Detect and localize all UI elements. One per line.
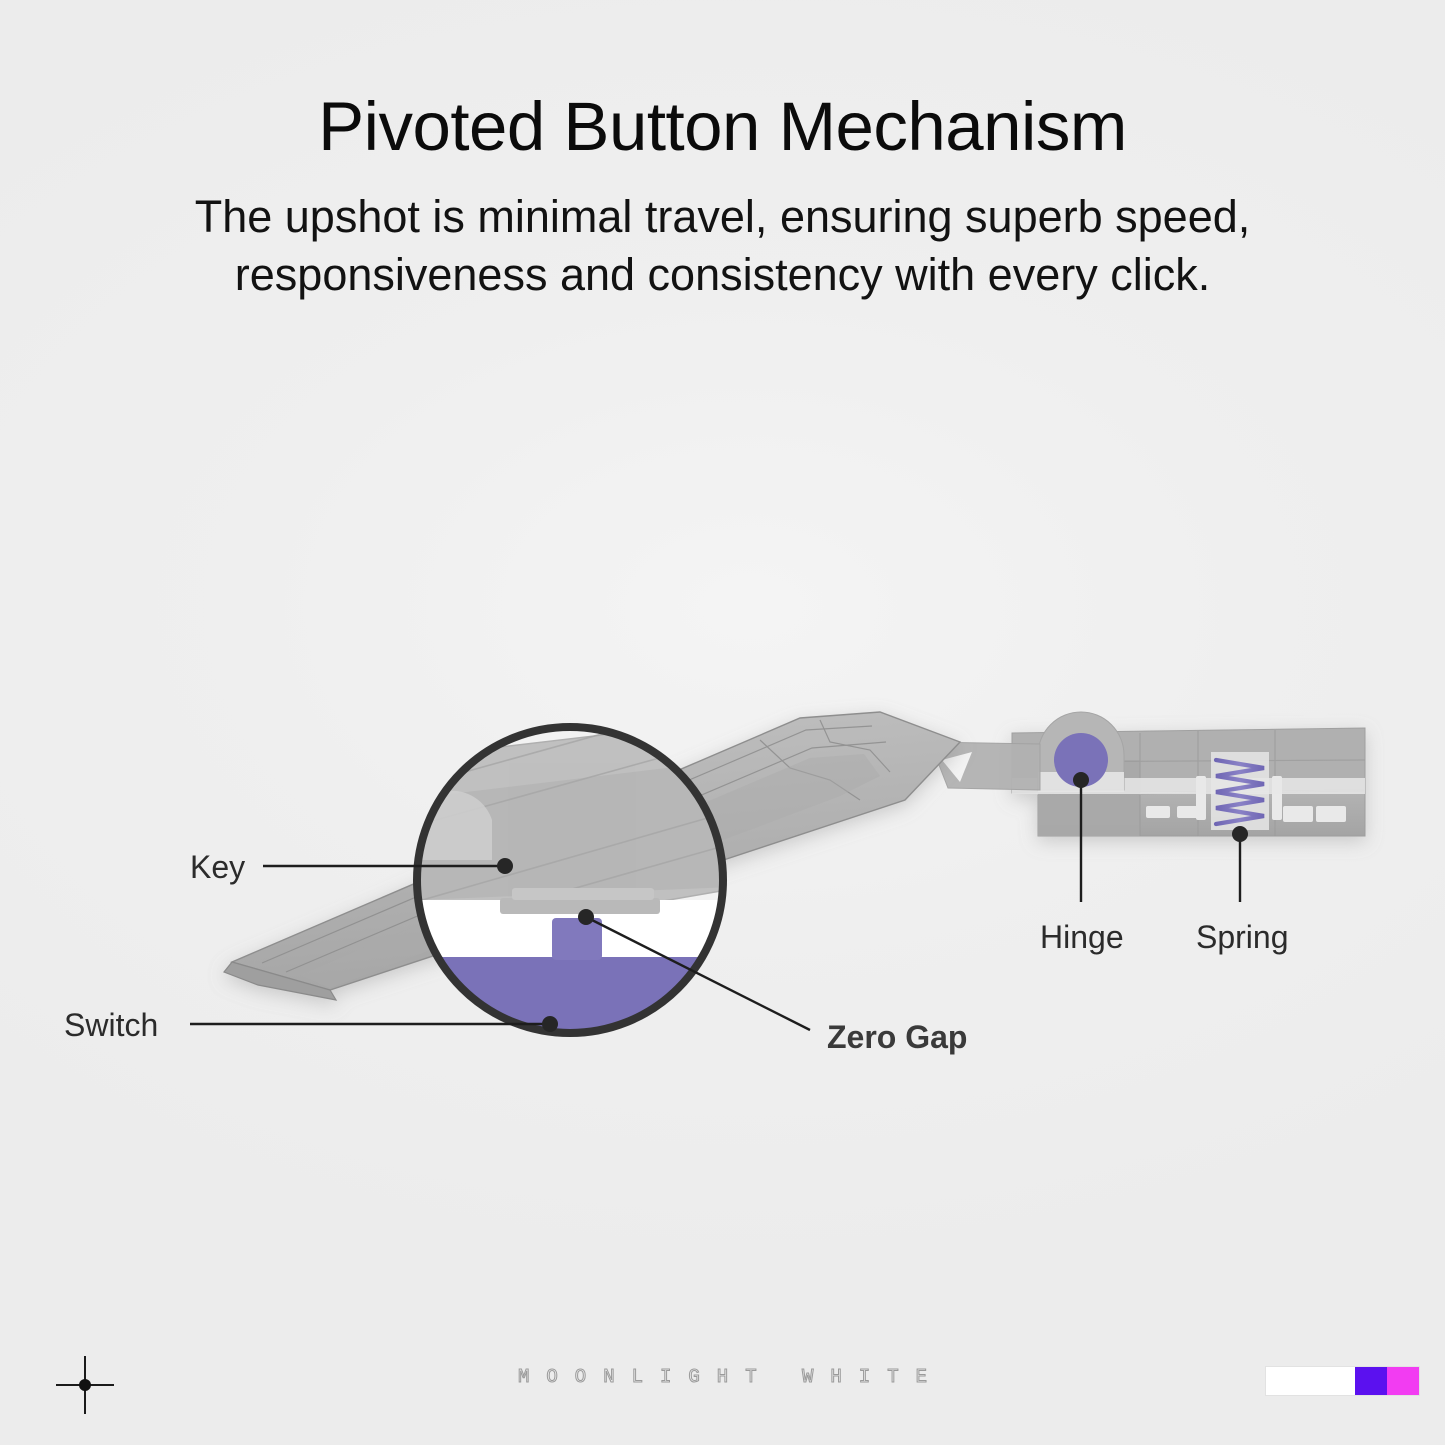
color-swatch-bar [1265,1366,1420,1396]
lens-switch-stem [552,918,602,960]
spring-assembly [1211,752,1269,830]
swatch-violet [1355,1367,1387,1395]
dot-key [497,858,513,874]
callout-label-switch: Switch [64,1007,158,1044]
swatch-white [1266,1367,1355,1395]
callout-label-zero-gap: Zero Gap [827,1019,967,1056]
lens-plate-lip [500,898,660,914]
footer-wordmark: MOONLIGHT WHITE [0,1366,1445,1388]
callout-label-spring: Spring [1196,919,1289,956]
dot-zero-gap [578,909,594,925]
callout-label-hinge: Hinge [1040,919,1124,956]
key-switch-cutaway-diagram [0,0,1445,1445]
dot-spring [1232,826,1248,842]
page-root: Pivoted Button Mechanism The upshot is m… [0,0,1445,1445]
dot-hinge [1073,772,1089,788]
callout-label-key: Key [190,849,245,886]
dot-switch [542,1016,558,1032]
swatch-magenta [1387,1367,1419,1395]
lens-plate-lip-2 [512,888,654,900]
